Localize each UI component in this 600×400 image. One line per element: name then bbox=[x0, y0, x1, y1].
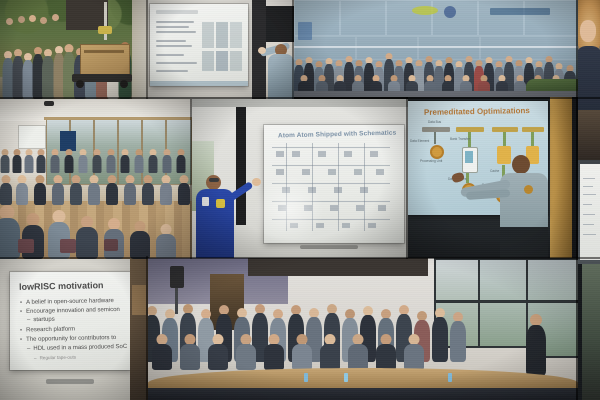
building-poster bbox=[298, 22, 312, 40]
lowrisc-subbullet-1: Regular tape-outs bbox=[34, 355, 76, 361]
screen-bottom-bar bbox=[46, 379, 94, 384]
slide-title-schematics: Atom Atom Shipped with Schematics bbox=[278, 130, 396, 140]
bench-shadow bbox=[148, 388, 578, 400]
collage-tile-group-photo-outdoor-hardware[interactable] bbox=[0, 0, 148, 99]
slide-line bbox=[156, 54, 184, 56]
projected-slide-schematics: Atom Atom Shipped with Schematics bbox=[264, 125, 404, 243]
lowrisc-bullet-4-cont: HDL used in a mass produced SoC bbox=[27, 344, 127, 352]
name-badge bbox=[202, 197, 209, 206]
chair bbox=[60, 239, 76, 253]
chair bbox=[104, 239, 118, 251]
portrait-lower bbox=[578, 110, 600, 160]
portrait-face bbox=[580, 20, 596, 42]
collage-tile-portrait-attendee[interactable] bbox=[578, 0, 600, 160]
blackboard bbox=[266, 6, 294, 42]
trolley-wheel bbox=[120, 80, 128, 88]
building-logo bbox=[444, 6, 456, 18]
slide-line bbox=[156, 62, 197, 64]
slide-title-optimizations: Premeditated Optimizations bbox=[424, 106, 530, 117]
water-bottle bbox=[344, 373, 348, 382]
trolley-wheel bbox=[76, 80, 84, 88]
building-banner bbox=[490, 8, 550, 15]
water-bottle bbox=[304, 373, 308, 382]
lecture-bench bbox=[148, 368, 578, 390]
projected-slide-topleft bbox=[150, 4, 248, 86]
ceiling-beam bbox=[192, 99, 408, 107]
slide-title-lowrisc: lowRISC motivation bbox=[19, 280, 104, 292]
theatre-upper-beam bbox=[248, 258, 428, 276]
label-data-element: Data Element bbox=[410, 139, 429, 143]
projector-glare bbox=[254, 175, 324, 245]
label-data-bus: Data Bus bbox=[428, 120, 441, 124]
window-frame bbox=[578, 264, 582, 400]
ceiling-light bbox=[44, 101, 54, 106]
building-sign bbox=[412, 6, 438, 15]
collage-tile-group-photo-lecture-theatre[interactable] bbox=[148, 258, 578, 400]
screen-tray bbox=[300, 245, 358, 249]
lowrisc-bullet-2: Encourage innovation and semicon bbox=[20, 307, 120, 315]
speaker-torso bbox=[268, 54, 294, 99]
slide-line bbox=[156, 45, 192, 47]
label-processing-unit: Processing Unit bbox=[420, 159, 442, 163]
label-cache: Cache bbox=[490, 169, 499, 173]
collage-tile-speaker-slide-chalkboard[interactable] bbox=[148, 0, 294, 99]
slide-footer bbox=[150, 81, 248, 86]
slide-line bbox=[156, 40, 186, 42]
slide-line bbox=[156, 70, 188, 72]
collage-tile-right-edge-strip-window[interactable] bbox=[578, 160, 600, 400]
lowrisc-bullet-4: The opportunity for contributors to bbox=[20, 335, 116, 343]
photo-collage: Atom Atom Shipped with Schematics bbox=[0, 0, 600, 400]
collage-tile-talk-premeditated-optimizations[interactable]: Premeditated Optimizations bbox=[408, 97, 578, 258]
speaker-trousers bbox=[500, 227, 548, 258]
shelf bbox=[132, 285, 146, 315]
wood-pillar bbox=[550, 97, 572, 258]
speaker-badge bbox=[524, 185, 533, 194]
collage-tile-audience-seated-hall[interactable] bbox=[0, 99, 192, 259]
slide-line bbox=[156, 26, 189, 28]
presenter-hand bbox=[252, 178, 261, 186]
label-bank-transfer: Bank Transfer bbox=[450, 137, 470, 141]
portrait-torso bbox=[578, 46, 600, 120]
lowrisc-bullet-1: A belief in open-source hardware bbox=[20, 298, 114, 306]
crate-slat bbox=[84, 50, 124, 53]
pa-speaker bbox=[170, 266, 184, 288]
chair bbox=[18, 239, 34, 253]
slide-title-blur bbox=[156, 10, 198, 14]
curtain bbox=[236, 107, 246, 225]
lowrisc-bullet-3: Research platform bbox=[20, 326, 75, 333]
lowrisc-screen: lowRISC motivation A belief in open-sour… bbox=[10, 272, 132, 370]
presenter-glasses bbox=[209, 178, 219, 182]
slide-line bbox=[156, 21, 194, 23]
water-bottle bbox=[448, 373, 452, 382]
collage-tile-talk-schematics-slide[interactable]: Atom Atom Shipped with Schematics bbox=[192, 99, 408, 258]
collage-tile-group-photo-glass-building[interactable] bbox=[294, 0, 578, 97]
lowrisc-bullet-2-cont: startups bbox=[27, 317, 55, 324]
collage-tile-lowrisc-motivation-slide[interactable]: lowRISC motivation A belief in open-sour… bbox=[0, 259, 148, 400]
slide-line bbox=[156, 31, 196, 33]
speaker-hand bbox=[258, 47, 266, 54]
shirt-logo bbox=[216, 199, 225, 208]
